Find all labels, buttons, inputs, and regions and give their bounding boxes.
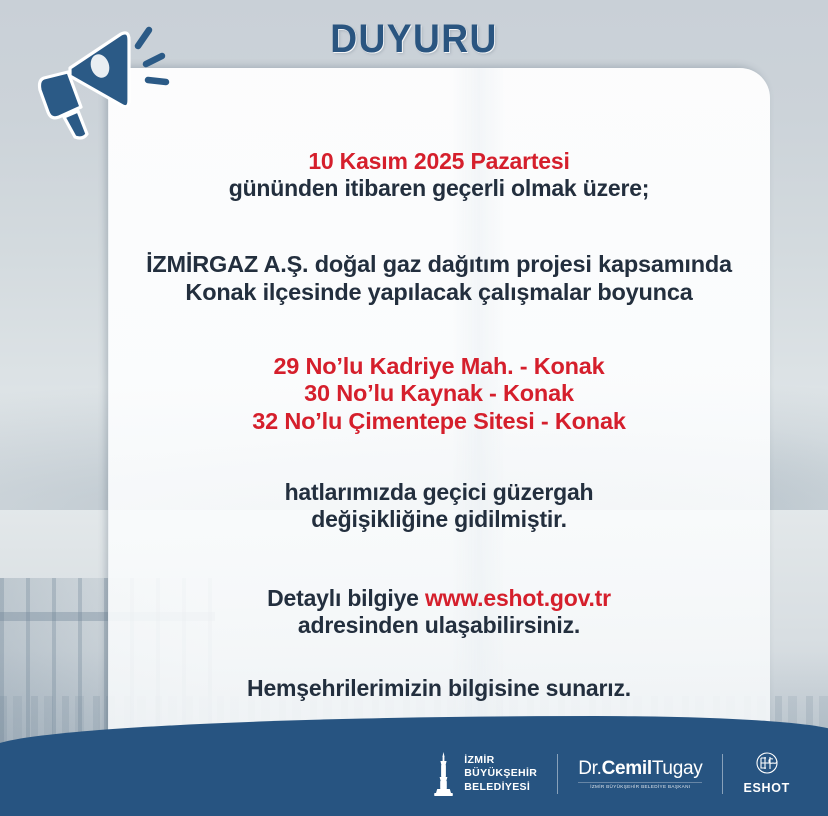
mayor-last-name: Tugay [652,758,703,779]
mayor-prefix: Dr. [578,758,601,779]
mayor-name: Dr.CemilTugay [578,758,702,779]
effect-block: hatlarımızda geçici güzergah değişikliği… [122,479,756,533]
izmir-line-2: BÜYÜKŞEHİR [464,767,537,780]
info-line-2: adresinden ulaşabilirsiniz. [122,612,756,639]
eshot-monogram-icon [752,751,782,777]
clock-tower-icon [432,752,455,796]
project-line-2: Konak ilçesinde yapılacak çalışmalar boy… [122,279,756,307]
izmir-logo-text: İZMİR BÜYÜKŞEHİR BELEDİYESİ [464,754,537,794]
izmir-line-3: BELEDİYESİ [464,781,537,794]
footer-logos: İZMİR BÜYÜKŞEHİR BELEDİYESİ Dr.CemilTuga… [412,748,810,800]
eshot-website-link[interactable]: www.eshot.gov.tr [425,585,611,611]
route-item: 30 No’lu Kaynak - Konak [122,380,756,408]
mayor-subtitle: İZMİR BÜYÜKŞEHİR BELEDİYE BAŞKANI [578,782,702,790]
info-line-1: Detaylı bilgiye www.eshot.gov.tr [122,585,756,612]
effect-line-1: hatlarımızda geçici güzergah [122,479,756,506]
footer-bar: İZMİR BÜYÜKŞEHİR BELEDİYESİ Dr.CemilTuga… [0,716,828,816]
project-block: İZMİRGAZ A.Ş. doğal gaz dağıtım projesi … [122,251,756,306]
eshot-logo: ESHOT [723,751,810,797]
info-block: Detaylı bilgiye www.eshot.gov.tr adresin… [122,585,756,639]
announcement-poster: DUYURU 10 Kasım 2025 Pazartesi gününden … [0,0,828,816]
page-title: DUYURU [29,17,799,62]
izmir-line-1: İZMİR [464,754,537,767]
date-subline: gününden itibaren geçerli olmak üzere; [122,175,756,202]
affected-routes-list: 29 No’lu Kadriye Mah. - Konak 30 No’lu K… [122,353,756,436]
mayor-first-name: Cemil [602,758,652,779]
mayor-logo: Dr.CemilTugay İZMİR BÜYÜKŞEHİR BELEDİYE … [558,759,722,790]
mayor-name-block: Dr.CemilTugay İZMİR BÜYÜKŞEHİR BELEDİYE … [578,759,702,790]
announcement-body: 10 Kasım 2025 Pazartesi gününden itibare… [108,68,770,768]
effect-line-2: değişikliğine gidilmiştir. [122,506,756,533]
izmir-municipality-logo: İZMİR BÜYÜKŞEHİR BELEDİYESİ [412,752,557,796]
route-item: 29 No’lu Kadriye Mah. - Konak [122,353,756,381]
project-line-1: İZMİRGAZ A.Ş. doğal gaz dağıtım projesi … [122,251,756,279]
eshot-logo-block: ESHOT [743,751,790,797]
route-item: 32 No’lu Çimentepe Sitesi - Konak [122,408,756,436]
date-line: 10 Kasım 2025 Pazartesi [122,148,756,175]
closing-line: Hemşehrilerimizin bilgisine sunarız. [122,675,756,702]
info-prefix: Detaylı bilgiye [267,585,425,611]
eshot-label: ESHOT [743,781,790,795]
date-block: 10 Kasım 2025 Pazartesi gününden itibare… [122,148,756,202]
closing-block: Hemşehrilerimizin bilgisine sunarız. [122,675,756,702]
